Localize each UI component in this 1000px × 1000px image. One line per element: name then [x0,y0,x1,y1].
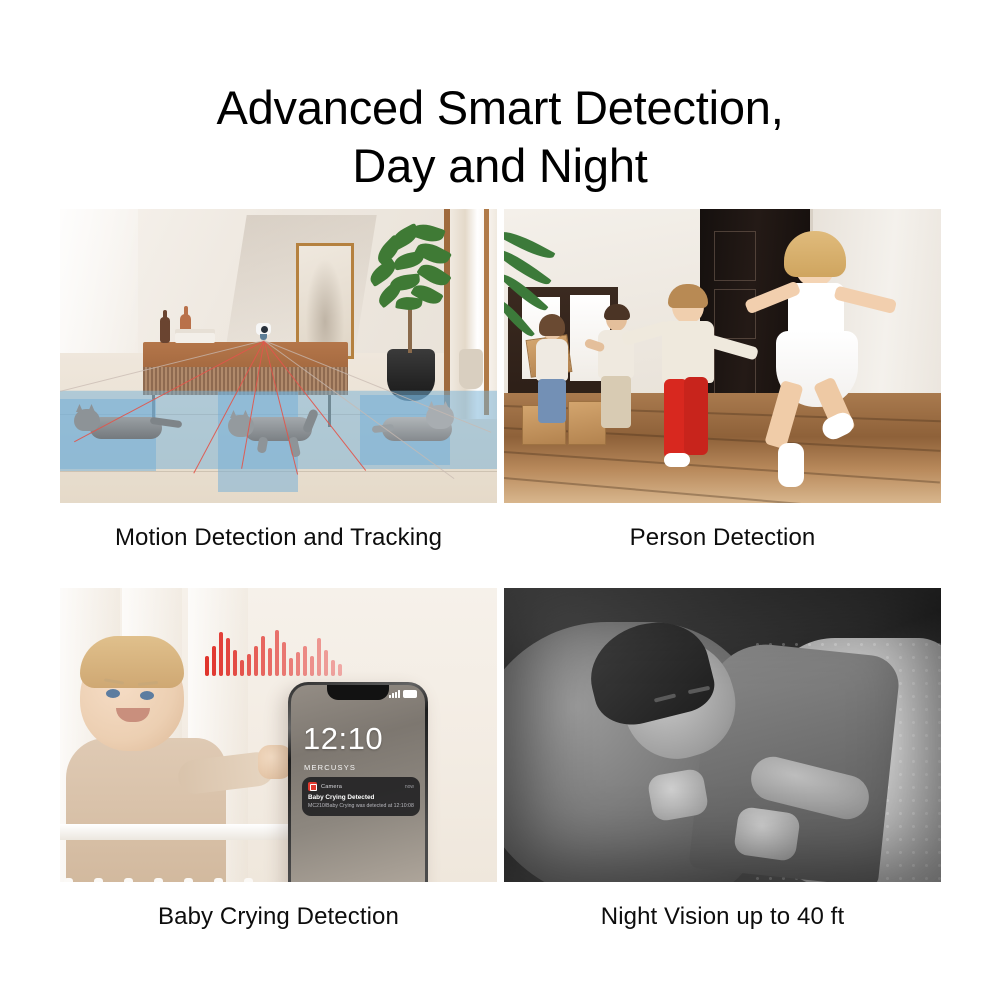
frame-artwork [303,250,347,352]
feature-caption-night-vision: Night Vision up to 40 ft [504,903,941,931]
door-jamb [484,209,489,415]
waveform-bar [282,642,286,676]
notification-card[interactable]: Camera now Baby Crying Detected MC210/Ba… [302,777,420,816]
waveform-bar [233,650,237,676]
signal-icon [389,690,400,698]
waveform-bar [331,660,335,676]
notification-header: Camera now [308,782,414,791]
page-title: Advanced Smart Detection, Day and Night [0,79,1000,195]
vignette [504,588,941,882]
cat-right [372,405,464,445]
camera-lens-icon [261,326,268,333]
phone-screen[interactable]: 12:10 MERCUSYS Camera now Baby Crying De… [291,685,425,882]
page-title-line-1: Advanced Smart Detection, [216,81,783,134]
decor-books [175,333,215,343]
waveform-bar [268,648,272,676]
smartphone: 12:10 MERCUSYS Camera now Baby Crying De… [288,682,428,882]
battery-icon [403,690,417,698]
baby-crying-image: 12:10 MERCUSYS Camera now Baby Crying De… [60,588,497,882]
feature-card-person-detection: Person Detection [504,209,941,552]
baby-hand [258,745,292,779]
waveform-bar [289,658,293,676]
waveform-bar [247,654,251,676]
sideboard-top [143,342,348,369]
notification-subtitle: MC210/Baby Crying was detected at 12:10:… [308,803,414,810]
lockscreen-brand: MERCUSYS [304,763,356,772]
home-entry-scene [504,209,941,503]
notification-timestamp: now [405,784,414,790]
feature-caption-motion-detection: Motion Detection and Tracking [60,524,497,552]
phone-notch [327,685,389,700]
motion-detection-image [60,209,497,503]
living-room-scene [60,209,497,503]
plant-leaves [360,223,460,313]
notification-title: Baby Crying Detected [308,794,414,801]
lockscreen-time: 12:10 [303,721,383,757]
waveform-bar [324,650,328,676]
waveform-bar [317,638,321,676]
page-title-line-2: Day and Night [0,137,1000,195]
baby-hair [80,636,184,688]
feature-caption-person-detection: Person Detection [504,524,941,552]
waveform-bar [310,656,314,676]
waveform-bar [261,636,265,676]
feature-caption-baby-crying-detection: Baby Crying Detection [60,903,497,931]
waveform-bar [212,646,216,676]
waveform-bar [338,664,342,676]
baby-eye [106,689,120,698]
waveform-bar [254,646,258,676]
marketing-page: Advanced Smart Detection, Day and Night [0,0,1000,1000]
crib [60,792,310,882]
person-child-girl [736,231,886,501]
feature-card-night-vision: Night Vision up to 40 ft [504,588,941,931]
waveform-bar [205,656,209,676]
floor-vase [459,349,483,389]
person-detection-image [504,209,941,503]
waveform-bar [219,632,223,676]
phone-status-bar [389,690,417,698]
camera-app-icon [308,782,317,791]
nursery-scene: 12:10 MERCUSYS Camera now Baby Crying De… [60,588,497,882]
waveform-bar [303,646,307,676]
security-camera [256,323,271,340]
night-vision-image [504,588,941,882]
baby-eye [140,691,154,700]
feature-card-baby-crying-detection: 12:10 MERCUSYS Camera now Baby Crying De… [60,588,497,931]
person-adult-woman [532,317,578,429]
waveform-bar [275,630,279,676]
waveform-bar [296,652,300,676]
feature-card-motion-detection: Motion Detection and Tracking [60,209,497,552]
waveform-bar [226,638,230,676]
notification-app-name: Camera [321,784,401,790]
sound-waveform [205,628,345,676]
person-child-boy [622,289,732,469]
night-vision-scene [504,588,941,882]
crib-rail [60,824,310,840]
cat-left [74,407,172,443]
decor-vase-dark [160,317,170,343]
waveform-bar [240,660,244,676]
